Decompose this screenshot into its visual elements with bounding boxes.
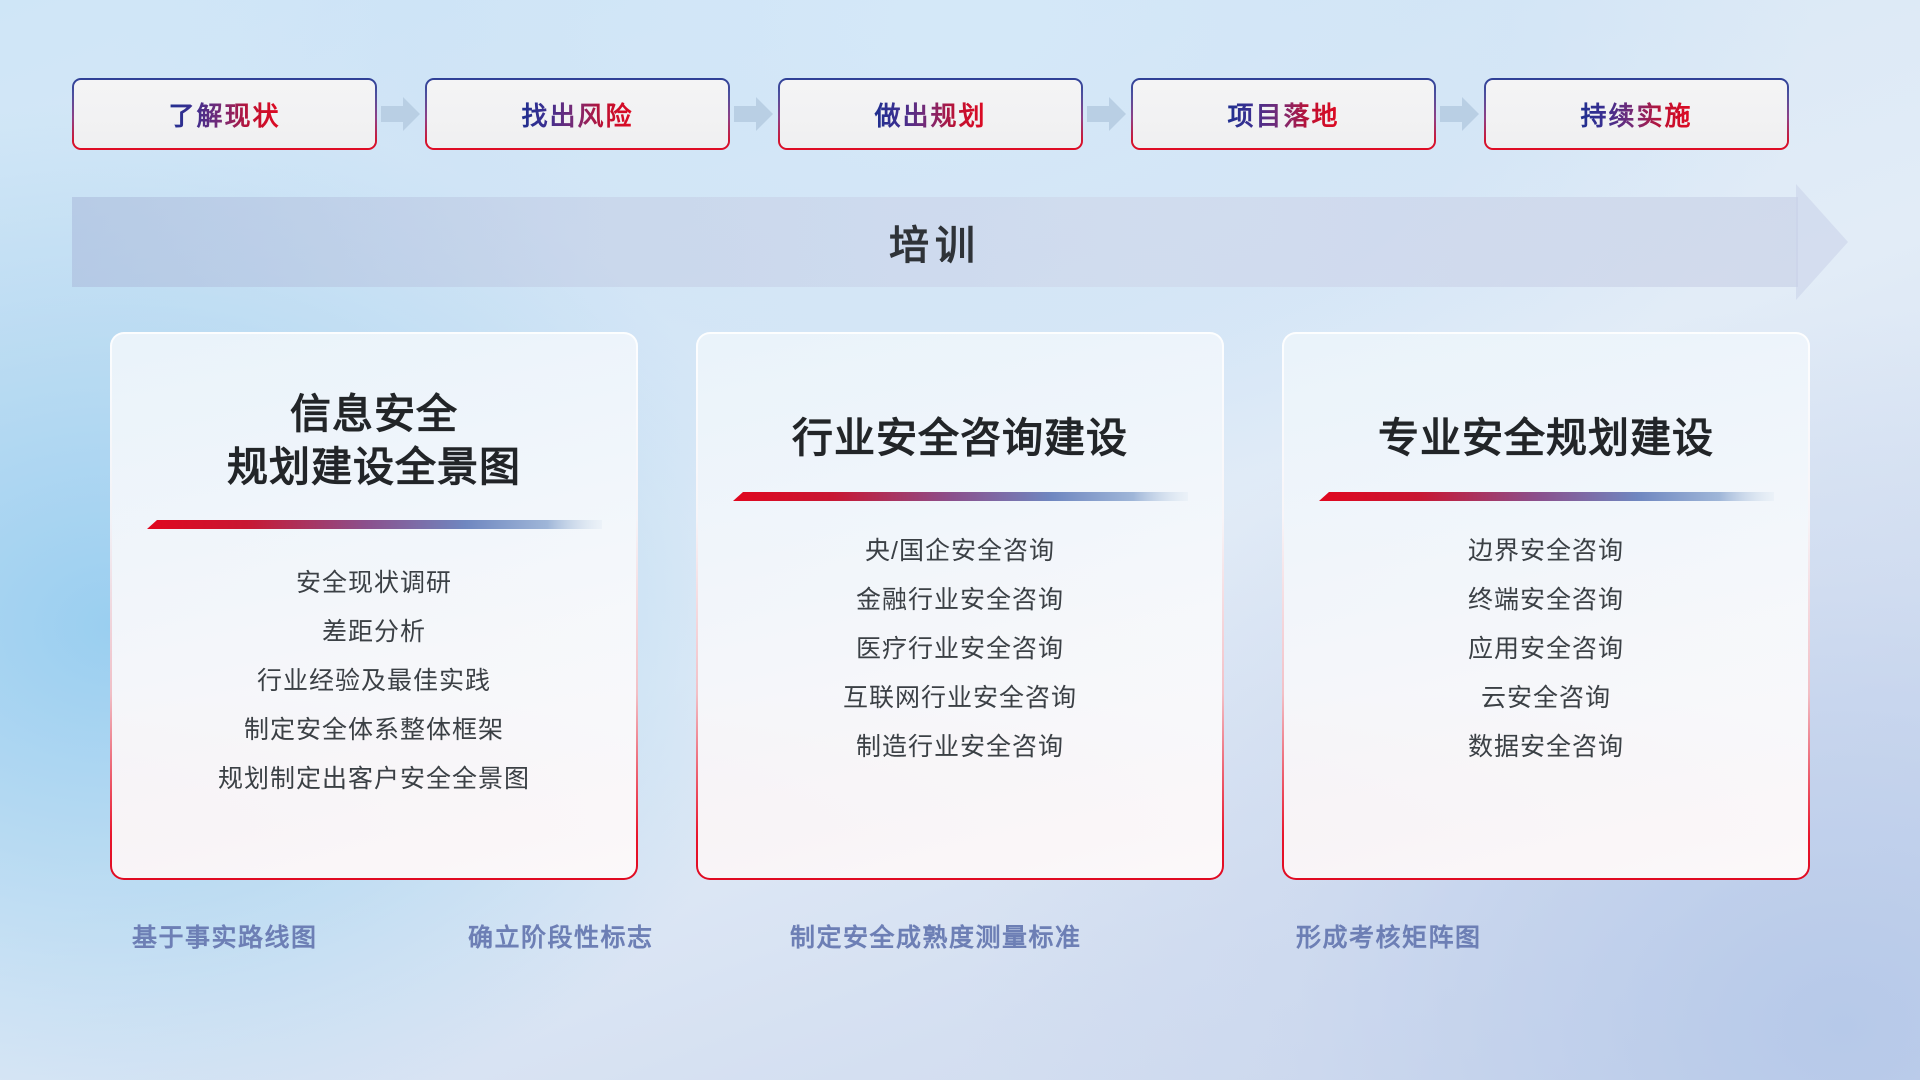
caption-4: 形成考核矩阵图	[1296, 918, 1482, 954]
list-item: 央/国企安全咨询	[865, 530, 1055, 573]
step-label: 了解现状	[168, 96, 280, 133]
caption-2: 确立阶段性标志	[468, 918, 654, 954]
banner-title: 培训	[72, 197, 1798, 287]
card-divider-icon	[733, 491, 1188, 504]
caption-3: 制定安全成熟度测量标准	[790, 918, 1082, 954]
list-item: 制造行业安全咨询	[856, 726, 1064, 769]
step-box-1[interactable]: 了解现状	[72, 78, 377, 150]
card-item-list: 边界安全咨询 终端安全咨询 应用安全咨询 云安全咨询 数据安全咨询	[1284, 530, 1808, 769]
list-item: 数据安全咨询	[1468, 726, 1624, 769]
card-item-list: 安全现状调研 差距分析 行业经验及最佳实践 制定安全体系整体框架 规划制定出客户…	[112, 562, 636, 801]
list-item: 安全现状调研	[296, 562, 452, 605]
list-item: 终端安全咨询	[1468, 579, 1624, 622]
card-item-list: 央/国企安全咨询 金融行业安全咨询 医疗行业安全咨询 互联网行业安全咨询 制造行…	[698, 530, 1222, 769]
card-2[interactable]: 行业安全咨询建设	[696, 332, 1224, 880]
process-step-row: 了解现状 找出风险 做出规划 项目落地 持续实施	[72, 78, 1848, 150]
card-2-inner: 行业安全咨询建设	[698, 334, 1222, 878]
card-3-inner: 专业安全规划建设	[1284, 334, 1808, 878]
step-box-4[interactable]: 项目落地	[1131, 78, 1436, 150]
card-title: 专业安全规划建设	[1378, 412, 1714, 464]
step-label: 项目落地	[1227, 96, 1339, 133]
step-arrow-icon-1	[377, 78, 425, 150]
card-title: 行业安全咨询建设	[792, 412, 1128, 464]
step-arrow-icon-2	[730, 78, 778, 150]
card-3[interactable]: 专业安全规划建设	[1282, 332, 1810, 880]
step-arrow-icon-3	[1083, 78, 1131, 150]
banner-arrow-tip-icon	[1796, 184, 1848, 300]
step-label: 做出规划	[874, 96, 986, 133]
list-item: 金融行业安全咨询	[856, 579, 1064, 622]
card-divider-icon	[1319, 491, 1774, 504]
list-item: 边界安全咨询	[1468, 530, 1624, 573]
step-label: 持续实施	[1580, 96, 1692, 133]
card-title: 信息安全 规划建设全景图	[227, 388, 521, 493]
caption-row: 基于事实路线图 确立阶段性标志 制定安全成熟度测量标准 形成考核矩阵图	[0, 918, 1920, 968]
card-1[interactable]: 信息安全 规划建设全景图	[110, 332, 638, 880]
training-banner: 培训	[72, 197, 1848, 287]
list-item: 制定安全体系整体框架	[244, 709, 504, 752]
list-item: 差距分析	[322, 611, 426, 654]
step-box-2[interactable]: 找出风险	[425, 78, 730, 150]
step-arrow-icon-4	[1436, 78, 1484, 150]
list-item: 互联网行业安全咨询	[843, 677, 1077, 720]
card-1-inner: 信息安全 规划建设全景图	[112, 334, 636, 878]
list-item: 应用安全咨询	[1468, 628, 1624, 671]
list-item: 行业经验及最佳实践	[257, 660, 491, 703]
step-label: 找出风险	[521, 96, 633, 133]
card-divider-icon	[147, 519, 602, 532]
step-box-3[interactable]: 做出规划	[778, 78, 1083, 150]
card-row: 信息安全 规划建设全景图	[110, 332, 1810, 880]
list-item: 规划制定出客户安全全景图	[218, 758, 530, 801]
step-box-5[interactable]: 持续实施	[1484, 78, 1789, 150]
caption-1: 基于事实路线图	[132, 918, 318, 954]
list-item: 医疗行业安全咨询	[856, 628, 1064, 671]
list-item: 云安全咨询	[1481, 677, 1611, 720]
